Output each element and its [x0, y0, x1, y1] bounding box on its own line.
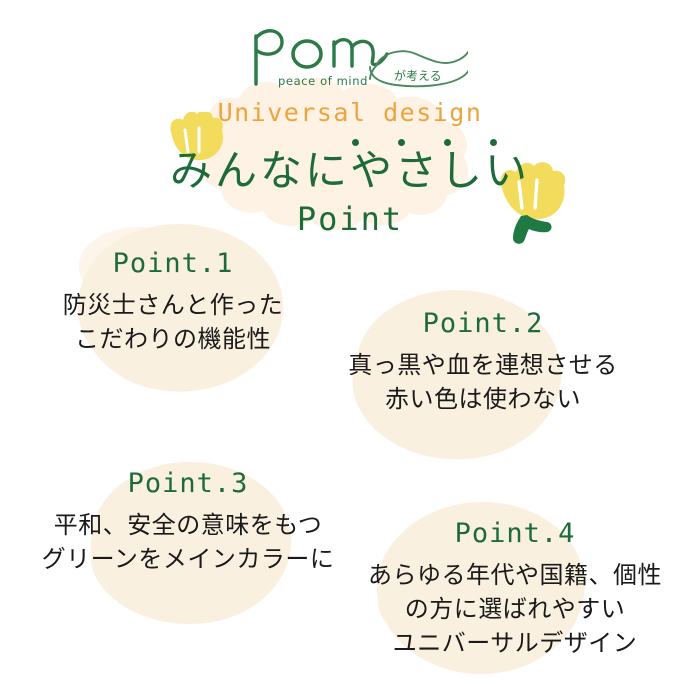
page-subtitle: Point: [0, 203, 700, 235]
point-body: 防災士さんと作った こだわりの機能性: [28, 288, 318, 356]
point-group-2: Point.2 真っ黒や血を連想させる 赤い色は使わない: [318, 308, 648, 416]
poster-canvas: が考える peace of mind Universal design みんなに…: [0, 0, 700, 700]
point-body-line: 真っ黒や血を連想させる: [318, 348, 648, 382]
emphasis-dot: [490, 139, 497, 146]
page-title: みんなにやさしい: [0, 150, 700, 192]
eyebrow-universal-design: Universal design: [0, 100, 700, 125]
point-body: あらゆる年代や国籍、個性 の方に選ばれやすい ユニバーサルデザイン: [345, 558, 685, 660]
emphasis-dot: [398, 139, 405, 146]
logo-bubble-text: が考える: [394, 68, 442, 83]
point-body: 真っ黒や血を連想させる 赤い色は使わない: [318, 348, 648, 416]
point-body-line: こだわりの機能性: [28, 322, 318, 356]
point-body: 平和、安全の意味をもつ グリーンをメインカラーに: [18, 508, 358, 576]
emphasis-dot: [352, 139, 359, 146]
point-body-line: グリーンをメインカラーに: [18, 542, 358, 576]
point-label: Point.3: [18, 468, 358, 499]
point-label: Point.4: [345, 518, 685, 549]
point-body-line: ユニバーサルデザイン: [345, 626, 685, 660]
point-group-4: Point.4 あらゆる年代や国籍、個性 の方に選ばれやすい ユニバーサルデザイ…: [345, 518, 685, 660]
brand-logo-block: が考える peace of mind: [0, 18, 700, 96]
point-label: Point.1: [28, 248, 318, 279]
point-body-line: 平和、安全の意味をもつ: [18, 508, 358, 542]
point-label: Point.2: [318, 308, 648, 339]
point-body-line: の方に選ばれやすい: [345, 592, 685, 626]
point-group-3: Point.3 平和、安全の意味をもつ グリーンをメインカラーに: [18, 468, 358, 576]
logo-tagline: peace of mind: [278, 74, 368, 88]
point-body-line: 赤い色は使わない: [318, 382, 648, 416]
emphasis-dots: [0, 139, 700, 151]
point-group-1: Point.1 防災士さんと作った こだわりの機能性: [28, 248, 318, 356]
emphasis-dot: [444, 139, 451, 146]
point-body-line: あらゆる年代や国籍、個性: [345, 558, 685, 592]
point-body-line: 防災士さんと作った: [28, 288, 318, 322]
pom-logo: が考える peace of mind: [248, 18, 468, 96]
